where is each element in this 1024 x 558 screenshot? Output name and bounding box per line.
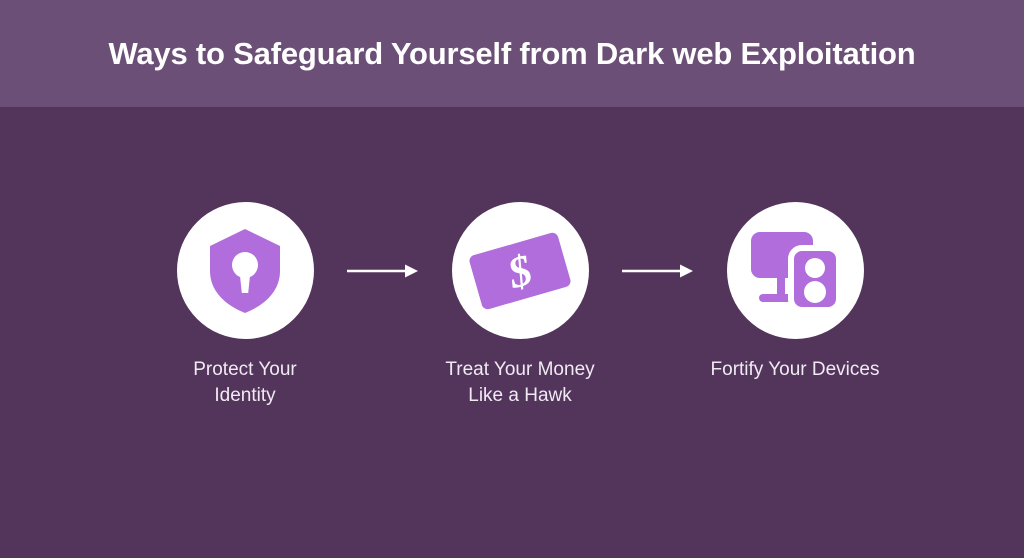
step-label: Treat Your Money Like a Hawk <box>435 357 605 409</box>
step-treat-money: $ Treat Your Money Like a Hawk <box>435 202 605 409</box>
page-title: Ways to Safeguard Yourself from Dark web… <box>108 36 915 72</box>
connector-2 <box>605 202 710 339</box>
connector-1 <box>330 202 435 339</box>
header-band: Ways to Safeguard Yourself from Dark web… <box>0 0 1024 107</box>
step-fortify-devices: Fortify Your Devices <box>710 202 880 383</box>
icon-circle <box>177 202 314 339</box>
shield-lock-icon <box>206 227 284 315</box>
arrow-right-icon <box>622 261 694 281</box>
monitor-tower-devices-icon <box>747 228 843 314</box>
step-label: Fortify Your Devices <box>710 357 880 383</box>
icon-circle: $ <box>452 202 589 339</box>
step-label: Protect Your Identity <box>160 357 330 409</box>
arrow-right-icon <box>347 261 419 281</box>
infographic-root: Ways to Safeguard Yourself from Dark web… <box>0 0 1024 558</box>
steps-row: Protect Your Identity <box>160 202 880 409</box>
icon-circle <box>727 202 864 339</box>
banknote-dollar-icon: $ <box>464 223 576 319</box>
step-protect-identity: Protect Your Identity <box>160 202 330 409</box>
process-flow: Protect Your Identity <box>0 107 1024 558</box>
